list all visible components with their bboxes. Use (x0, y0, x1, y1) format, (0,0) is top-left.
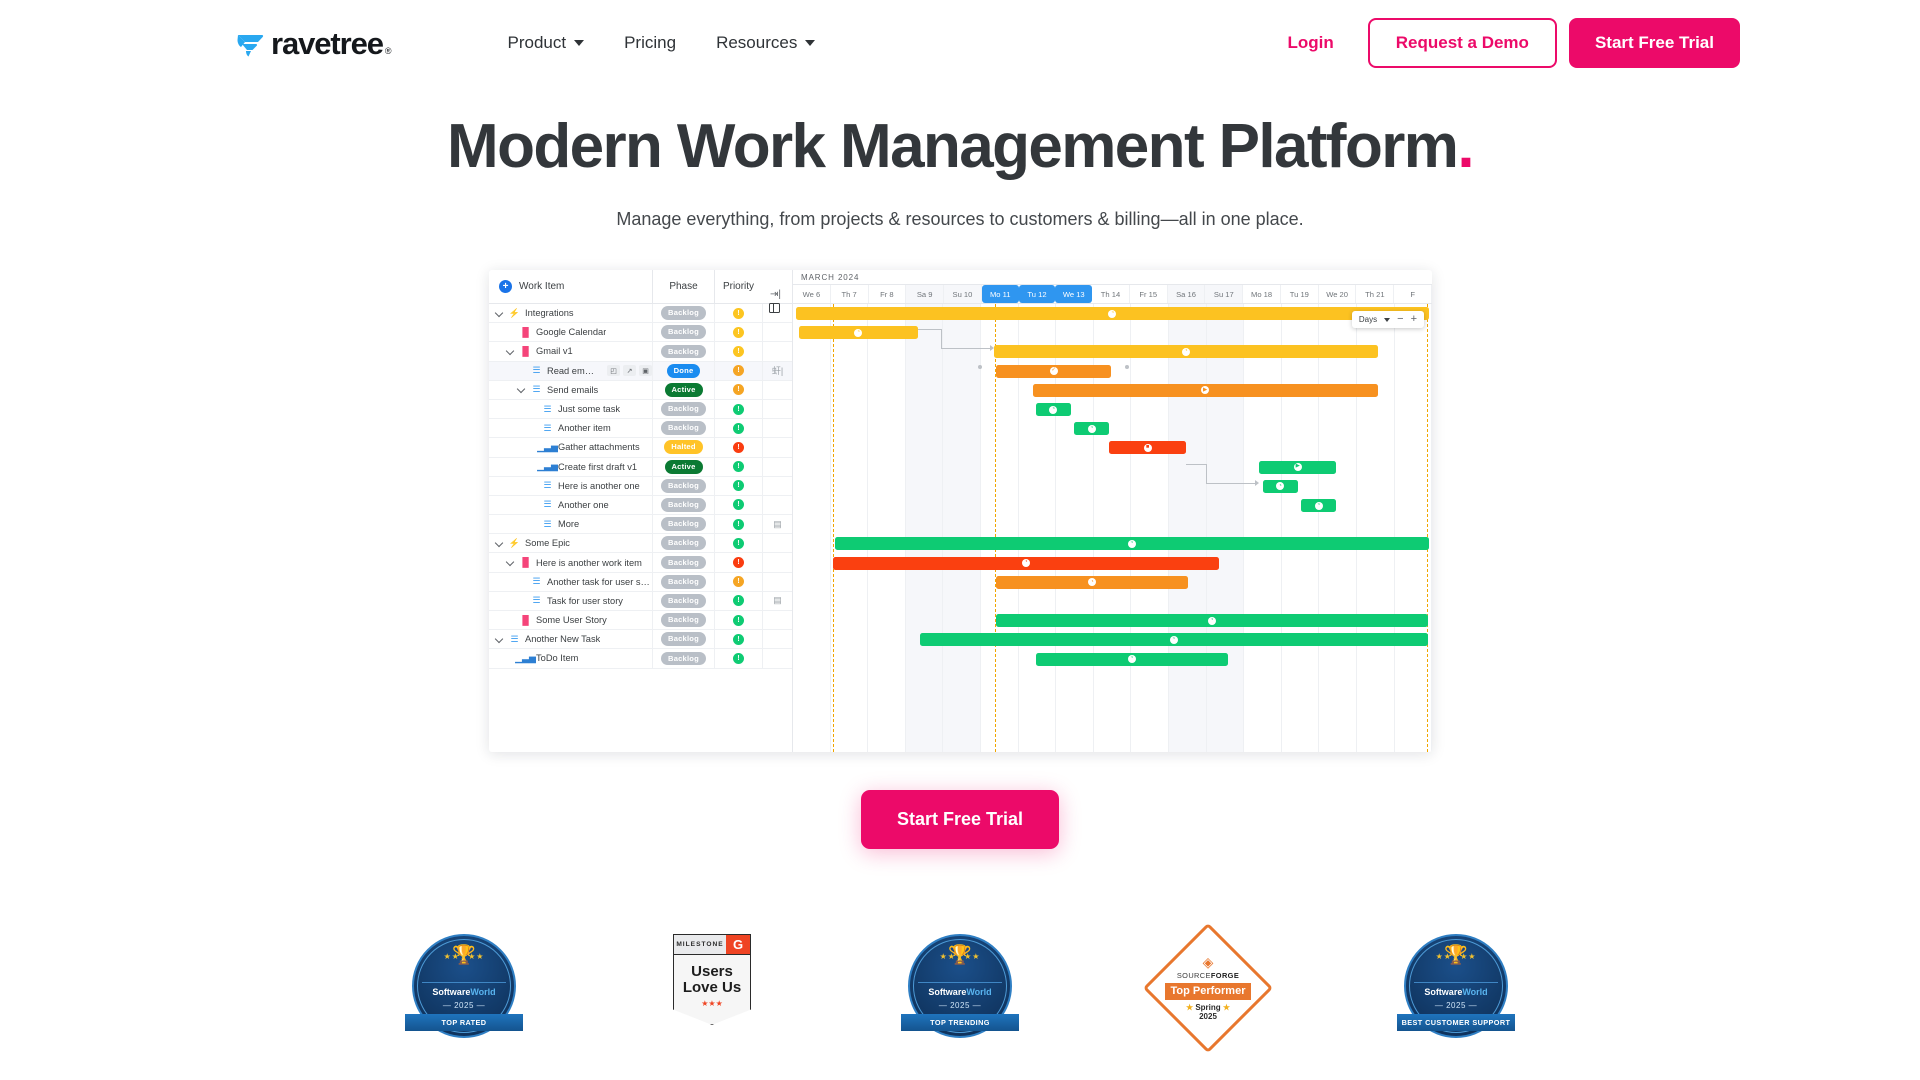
chart-icon: ▁▃▅ (520, 653, 531, 664)
row-label: Send emails (547, 385, 598, 395)
timeline-day-cell[interactable]: Th 21 (1356, 285, 1394, 303)
status-badge[interactable]: Backlog (661, 517, 706, 531)
gantt-bar[interactable]: ▶ (1259, 461, 1336, 474)
nav-item-resources[interactable]: Resources (696, 23, 835, 63)
priority-indicator[interactable]: ! (733, 461, 744, 472)
priority-cell: ! (714, 400, 762, 418)
badge-year: 2025 (1199, 1012, 1217, 1021)
status-badge[interactable]: Backlog (661, 498, 706, 512)
priority-indicator[interactable]: ! (733, 442, 744, 453)
chevron-down-icon[interactable] (495, 539, 504, 548)
gantt-bar[interactable]: ◔ (835, 537, 1429, 550)
column-header-work-item: Work Item (519, 281, 564, 292)
priority-indicator[interactable]: ! (733, 365, 744, 376)
priority-cell: ! (714, 534, 762, 552)
priority-indicator[interactable]: ! (733, 557, 744, 568)
timeline-column (1282, 304, 1320, 752)
row-action-cell (762, 323, 792, 341)
nav-label: Resources (716, 33, 797, 53)
row-action-cell (762, 611, 792, 629)
dependency-line (1206, 483, 1256, 484)
gantt-bar[interactable]: ■ (1109, 441, 1186, 454)
badge-brand-accent: World (966, 987, 991, 997)
status-badge[interactable]: Backlog (661, 325, 706, 339)
row-action-cell (762, 419, 792, 437)
gantt-bar-status-icon: ◔ (1022, 559, 1030, 567)
gantt-bar[interactable]: ◔ (833, 557, 1220, 570)
timeline-column (1207, 304, 1245, 752)
row-name-cell: ☰Send emails (489, 384, 652, 395)
badge-year: — 2025 — (904, 1001, 1016, 1010)
gantt-bar-status-icon: ◔ (1315, 502, 1323, 510)
gantt-bar[interactable]: ◔ (1263, 480, 1298, 493)
priority-cell: ! (714, 458, 762, 476)
row-name-cell: ☰Task for user story (489, 595, 652, 606)
timeline-zoom-control[interactable]: Days − + (1352, 311, 1424, 328)
dependency-line (1206, 464, 1207, 483)
timeline-marker-start (833, 304, 834, 752)
collapse-right-icon[interactable]: 虷| (762, 362, 792, 380)
priority-indicator[interactable]: ! (733, 634, 744, 645)
table-row[interactable]: ⚡Some EpicBacklog! (489, 534, 792, 553)
gantt-bar-status-icon: ◔ (1108, 310, 1116, 318)
timeline-day-cell[interactable]: Su 10 (944, 285, 982, 303)
table-row[interactable]: ☰Another oneBacklog! (489, 496, 792, 515)
row-label: Here is another work item (536, 558, 642, 568)
timeline-column (1319, 304, 1357, 752)
gantt-bar[interactable]: ◔ (796, 307, 1429, 320)
row-label: More (558, 519, 579, 529)
epic-icon: ⚡ (509, 308, 520, 319)
nav-item-product[interactable]: Product (488, 23, 605, 63)
row-action-cell (762, 630, 792, 648)
gantt-bar-status-icon: ◔ (1088, 425, 1096, 433)
badge-content: ◈SOURCEFORGETop Performer★ Spring ★2025 (1154, 934, 1262, 1042)
gantt-bar-status-icon: ◔ (1276, 482, 1284, 490)
table-row[interactable]: ☰Just some taskBacklog! (489, 400, 792, 419)
priority-indicator[interactable]: ! (733, 423, 744, 434)
award-badge-softwareworld: 🏆★★★★★SoftwareWorld— 2025 —TOP TRENDING (900, 930, 1020, 1050)
row-action-cell (762, 400, 792, 418)
gantt-bar[interactable]: ◔ (1036, 653, 1228, 666)
timeline-day-cell[interactable]: Th 7 (831, 285, 869, 303)
priority-indicator[interactable]: ! (733, 346, 744, 357)
priority-indicator[interactable]: ! (733, 538, 744, 549)
chevron-down-icon[interactable] (1384, 318, 1390, 322)
timeline-day-cell[interactable]: We 20 (1319, 285, 1357, 303)
phase-cell: Halted (652, 438, 714, 456)
priority-indicator[interactable]: ! (733, 384, 744, 395)
status-badge[interactable]: Backlog (661, 402, 706, 416)
task-icon: ☰ (531, 595, 542, 606)
priority-cell: ! (714, 362, 762, 380)
chevron-down-icon[interactable] (495, 309, 504, 318)
badge-divider (918, 982, 1002, 983)
phase-cell: Backlog (652, 630, 714, 648)
row-label: Another item (558, 423, 611, 433)
login-button[interactable]: Login (1265, 21, 1355, 65)
status-badge[interactable]: Backlog (661, 421, 706, 435)
timeline-column (793, 304, 831, 752)
gantt-bar[interactable]: ◔ (920, 633, 1428, 646)
row-label: Some User Story (536, 615, 607, 625)
status-badge[interactable]: Backlog (661, 479, 706, 493)
status-badge[interactable]: Backlog (661, 594, 706, 608)
nav-item-pricing[interactable]: Pricing (604, 23, 696, 63)
badge-divider (422, 982, 506, 983)
row-name-cell: ▐▌Some User Story (489, 615, 652, 626)
table-row[interactable]: ☰MoreBacklog!▤ (489, 515, 792, 534)
status-badge[interactable]: Backlog (661, 613, 706, 627)
row-name-cell: ⚡Some Epic (489, 538, 652, 549)
timeline-day-cell[interactable]: Mo 18 (1243, 285, 1281, 303)
phase-cell: Backlog (652, 649, 714, 667)
gantt-bar[interactable]: ▶ (1033, 384, 1378, 397)
table-row[interactable]: ☰Another itemBacklog! (489, 419, 792, 438)
row-action-cell (762, 534, 792, 552)
status-badge[interactable]: Backlog (661, 632, 706, 646)
badge-brand-main: Software (928, 987, 966, 997)
status-badge[interactable]: Halted (664, 440, 702, 454)
timeline-day-cell[interactable]: Tu 19 (1281, 285, 1319, 303)
priority-cell: ! (714, 573, 762, 591)
phase-cell: Backlog (652, 342, 714, 360)
table-row[interactable]: ⚡IntegrationsBacklog! (489, 304, 792, 323)
priority-cell: ! (714, 304, 762, 322)
task-icon: ☰ (542, 423, 553, 434)
row-label: Just some task (558, 404, 620, 414)
chart-icon: ▁▃▅ (542, 461, 553, 472)
phase-cell: Backlog (652, 419, 714, 437)
status-badge[interactable]: Backlog (661, 556, 706, 570)
priority-indicator[interactable]: ! (733, 308, 744, 319)
priority-indicator[interactable]: ! (733, 519, 744, 530)
priority-cell: ! (714, 592, 762, 610)
row-action-cell (762, 438, 792, 456)
open-external-icon[interactable]: ↗ (623, 365, 636, 376)
gantt-bar-status-icon: ▶ (1201, 386, 1209, 394)
badge-year: — 2025 — (1400, 1001, 1512, 1010)
g2-logo-icon: G (726, 935, 750, 954)
zoom-scale-label: Days (1359, 315, 1377, 324)
timeline-day-cell[interactable]: Th 14 (1092, 285, 1130, 303)
cta-section: Start Free Trial (0, 790, 1920, 849)
timeline-column (943, 304, 981, 752)
page-title: Modern Work Management Platform. (0, 114, 1920, 179)
phase-cell: Backlog (652, 592, 714, 610)
priority-cell: ! (714, 342, 762, 360)
sourceforge-logo-icon: ◈ (1203, 955, 1214, 969)
chevron-placeholder (528, 462, 537, 471)
timeline-day-cell[interactable]: Mo 11 (982, 285, 1019, 303)
panel-layout-icon[interactable] (769, 303, 780, 313)
priority-indicator[interactable]: ! (733, 499, 744, 510)
zoom-in-button[interactable]: + (1411, 314, 1417, 325)
row-action-cell (762, 649, 792, 667)
row-action-cell (762, 458, 792, 476)
product-screenshot-gantt: + Work Item Phase Priority ⇥| ⚡Integrati… (489, 270, 1432, 752)
timeline-day-cell[interactable]: Su 17 (1205, 285, 1243, 303)
timeline-day-cell[interactable]: We 6 (793, 285, 831, 303)
timeline-day-cell[interactable]: Sa 9 (906, 285, 944, 303)
table-row[interactable]: ▁▃▅ToDo ItemBacklog! (489, 649, 792, 668)
dependency-line (941, 329, 942, 348)
header-work-item: + Work Item (489, 280, 652, 293)
timeline-column (1169, 304, 1207, 752)
gantt-bar[interactable]: ◔ (799, 326, 917, 339)
timeline-body: ◔◔◔✓▶◔◔■▶◔◔◔◔◔◔◔◔ (793, 304, 1432, 752)
status-badge[interactable]: Backlog (661, 652, 706, 666)
timeline-column (1357, 304, 1395, 752)
gantt-bar[interactable]: ◔ (996, 614, 1427, 627)
epic-icon: ⚡ (509, 538, 520, 549)
timeline-columns (793, 304, 1432, 752)
softwareworld-badge: 🏆★★★★★SoftwareWorld— 2025 —BEST CUSTOMER… (1400, 930, 1512, 1042)
badge-title: Top Performer (1165, 983, 1251, 1000)
badge-brand: SOURCEFORGE (1177, 971, 1239, 980)
status-badge[interactable]: Done (667, 364, 701, 378)
row-name-cell: ☰Another task for user story (489, 576, 652, 587)
timeline-day-cell[interactable]: Tu 12 (1019, 285, 1056, 303)
chevron-placeholder (528, 443, 537, 452)
row-label: Gather attachments (558, 442, 640, 452)
timeline-column (1244, 304, 1282, 752)
dependency-line (918, 329, 941, 330)
table-row[interactable]: ☰Send emailsActive! (489, 381, 792, 400)
row-name-cell: ☰Another item (489, 423, 652, 434)
table-row[interactable]: ▐▌Google CalendarBacklog! (489, 323, 792, 342)
status-badge[interactable]: Backlog (661, 345, 706, 359)
gantt-bar-status-icon: ◔ (1170, 636, 1178, 644)
row-name-cell: ☰Another New Task (489, 634, 652, 645)
badge-brand-main: Software (432, 987, 470, 997)
row-label: Another New Task (525, 634, 600, 644)
story-icon: ▐▌ (520, 557, 531, 568)
phase-cell: Backlog (652, 611, 714, 629)
chevron-placeholder (506, 654, 515, 663)
priority-indicator[interactable]: ! (733, 576, 744, 587)
table-row[interactable]: ▐▌Here is another work itemBacklog! (489, 553, 792, 572)
row-action-cell (762, 496, 792, 514)
phase-cell: Done (652, 362, 714, 380)
priority-indicator[interactable]: ! (733, 404, 744, 415)
badge-ribbon-label: BEST CUSTOMER SUPPORT (1397, 1014, 1515, 1031)
gantt-bar[interactable]: ◔ (1301, 499, 1336, 512)
row-label: Create first draft v1 (558, 462, 637, 472)
g2-title-line1: Users (678, 964, 746, 980)
row-action-cell (762, 381, 792, 399)
priority-indicator[interactable]: ! (733, 480, 744, 491)
badge-brand: SoftwareWorld (1400, 988, 1512, 998)
phase-cell: Backlog (652, 553, 714, 571)
gantt-bar[interactable]: ◔ (1036, 403, 1071, 416)
gantt-bar[interactable]: ◔ (994, 345, 1377, 358)
priority-indicator[interactable]: ! (733, 615, 744, 626)
calendar-icon[interactable]: ▤ (762, 515, 792, 533)
chevron-placeholder (517, 577, 526, 586)
gantt-bar-status-icon: ◔ (854, 329, 862, 337)
gantt-bar-status-icon: ◔ (1182, 348, 1190, 356)
tag-icon[interactable]: ◰ (607, 365, 620, 376)
column-header-phase: Phase (652, 270, 714, 303)
table-row[interactable]: ☰Another task for user storyBacklog! (489, 573, 792, 592)
priority-indicator[interactable]: ! (733, 595, 744, 606)
start-free-trial-button-hero[interactable]: Start Free Trial (861, 790, 1059, 849)
timeline-month-label: MARCH 2024 (793, 270, 1432, 285)
nav-label: Pricing (624, 33, 676, 53)
row-label: Task for user story (547, 596, 623, 606)
sourceforge-badge: ◈SOURCEFORGETop Performer★ Spring ★2025 (1154, 934, 1262, 1042)
timeline-day-cell[interactable]: Fr 8 (869, 285, 907, 303)
badge-year: — 2025 — (408, 1001, 520, 1010)
ravetree-logo-icon (236, 31, 266, 59)
table-row[interactable]: ▐▌Gmail v1Backlog! (489, 342, 792, 361)
calendar-icon[interactable]: ▤ (762, 592, 792, 610)
row-label: Some Epic (525, 538, 570, 548)
timeline-day-cell[interactable]: Sa 16 (1168, 285, 1206, 303)
story-icon: ▐▌ (520, 615, 531, 626)
row-label: Gmail v1 (536, 346, 573, 356)
row-label: Integrations (525, 308, 574, 318)
row-name-cell: ☰Another one (489, 499, 652, 510)
phase-cell: Backlog (652, 515, 714, 533)
story-icon: ▐▌ (520, 327, 531, 338)
badge-brand-accent: World (470, 987, 495, 997)
row-label: Here is another one (558, 481, 640, 491)
chevron-down-icon[interactable] (506, 347, 515, 356)
status-badge[interactable]: Active (665, 460, 703, 474)
priority-cell: ! (714, 419, 762, 437)
table-row[interactable]: ☰Here is another oneBacklog! (489, 477, 792, 496)
gantt-bar-status-icon: ▶ (1294, 463, 1302, 471)
softwareworld-badge: 🏆★★★★★SoftwareWorld— 2025 —TOP RATED (408, 930, 520, 1042)
task-icon: ☰ (542, 499, 553, 510)
priority-indicator[interactable]: ! (733, 327, 744, 338)
badge-brand-main: SOURCE (1177, 971, 1211, 980)
gantt-bar-status-icon: ◔ (1049, 406, 1057, 414)
story-icon: ▐▌ (520, 346, 531, 357)
badge-brand-accent: World (1462, 987, 1487, 997)
phase-cell: Active (652, 458, 714, 476)
row-name-cell: ⚡Integrations (489, 308, 652, 319)
chevron-placeholder (528, 405, 537, 414)
gantt-bar-status-icon: ■ (1144, 444, 1152, 452)
badge-brand-main: Software (1424, 987, 1462, 997)
table-row[interactable]: ☰Task for user storyBacklog!▤ (489, 592, 792, 611)
task-icon: ☰ (531, 365, 542, 376)
nav-label: Product (508, 33, 567, 53)
timeline-day-cell[interactable]: We 13 (1055, 285, 1092, 303)
gantt-bar[interactable]: ◔ (1074, 422, 1109, 435)
main-nav: Product Pricing Resources (488, 23, 836, 63)
chevron-down-icon[interactable] (495, 635, 504, 644)
gantt-bar-status-icon: ◔ (1088, 578, 1096, 586)
chevron-down-icon (574, 40, 584, 46)
row-name-cell: ▁▃▅Gather attachments (489, 442, 652, 453)
g2-title-line2: Love Us (678, 980, 746, 996)
status-badge[interactable]: Active (665, 383, 703, 397)
award-badge-softwareworld: 🏆★★★★★SoftwareWorld— 2025 —TOP RATED (404, 930, 524, 1050)
row-name-cell: ☰Just some task (489, 404, 652, 415)
status-badge[interactable]: Backlog (661, 575, 706, 589)
badge-divider (1414, 982, 1498, 983)
chevron-placeholder (506, 328, 515, 337)
column-header-priority: Priority (714, 270, 762, 303)
task-icon: ☰ (509, 634, 520, 645)
row-name-cell: ☰Here is another one (489, 480, 652, 491)
hero-subhead: Manage everything, from projects & resou… (0, 209, 1920, 230)
brand-logo[interactable]: ravetree ® (236, 28, 392, 59)
status-badge[interactable]: Backlog (661, 536, 706, 550)
dependency-arrow-icon (990, 345, 994, 351)
plus-circle-icon[interactable]: + (499, 280, 512, 293)
collapse-right-icon[interactable]: ⇥| (770, 289, 781, 300)
chevron-placeholder (506, 616, 515, 625)
panel-icon[interactable]: ▣ (639, 365, 652, 376)
chevron-down-icon[interactable] (517, 385, 526, 394)
row-label: Google Calendar (536, 327, 606, 337)
row-quick-actions: ◰↗▣ (607, 365, 652, 376)
table-row[interactable]: ☰Read emails◰↗▣Done!虷| (489, 362, 792, 381)
award-badge-g2: MILESTONEGUsersLove Us★★★ (652, 930, 772, 1050)
timeline-day-cell[interactable]: Fr 15 (1130, 285, 1168, 303)
priority-cell: ! (714, 515, 762, 533)
priority-indicator[interactable]: ! (733, 653, 744, 664)
timeline-column (831, 304, 869, 752)
chart-icon: ▁▃▅ (542, 442, 553, 453)
chevron-placeholder (528, 500, 537, 509)
timeline-day-cell[interactable]: F (1394, 285, 1432, 303)
table-row[interactable]: ▁▃▅Gather attachmentsHalted! (489, 438, 792, 457)
landing-page: ravetree ® Product Pricing Resources Log… (0, 0, 1920, 1080)
table-row[interactable]: ▐▌Some User StoryBacklog! (489, 611, 792, 630)
award-badge-sourceforge: ◈SOURCEFORGETop Performer★ Spring ★2025 (1148, 930, 1268, 1050)
g2-header: MILESTONEG (673, 934, 751, 955)
dependency-arrow-icon (1255, 480, 1259, 486)
phase-cell: Backlog (652, 323, 714, 341)
table-row[interactable]: ☰Another New TaskBacklog! (489, 630, 792, 649)
chevron-placeholder (528, 520, 537, 529)
stars-icon: ★★★★★ (1400, 952, 1512, 961)
row-label: Read emails (547, 366, 596, 376)
badge-brand: SoftwareWorld (904, 988, 1016, 998)
priority-cell: ! (714, 438, 762, 456)
priority-cell: ! (714, 323, 762, 341)
start-free-trial-button-header[interactable]: Start Free Trial (1569, 18, 1740, 68)
badge-season: ★ Spring ★ (1186, 1003, 1230, 1012)
row-label: ToDo Item (536, 653, 578, 663)
gantt-bar[interactable]: ✓ (996, 365, 1111, 378)
timeline-day-header: We 6Th 7Fr 8Sa 9Su 10Mo 11Tu 12We 13Th 1… (793, 285, 1432, 304)
status-badge[interactable]: Backlog (661, 306, 706, 320)
table-row[interactable]: ▁▃▅Create first draft v1Active! (489, 458, 792, 477)
timeline-column (1131, 304, 1169, 752)
badge-ribbon-label: TOP TRENDING (901, 1014, 1019, 1031)
award-badge-row: 🏆★★★★★SoftwareWorld— 2025 —TOP RATEDMILE… (0, 930, 1920, 1050)
gantt-grid-header: + Work Item Phase Priority ⇥| (489, 270, 792, 304)
task-icon: ☰ (542, 519, 553, 530)
gantt-bar-status-icon: ✓ (1050, 367, 1058, 375)
row-name-cell: ▐▌Gmail v1 (489, 346, 652, 357)
chevron-down-icon[interactable] (506, 558, 515, 567)
headline-text: Modern Work Management Platform (447, 112, 1457, 181)
gantt-bar[interactable]: ◔ (996, 576, 1188, 589)
task-icon: ☰ (531, 384, 542, 395)
chevron-placeholder (517, 596, 526, 605)
request-demo-button[interactable]: Request a Demo (1368, 18, 1557, 68)
badge-brand-accent: FORGE (1211, 971, 1239, 980)
zoom-out-button[interactable]: − (1397, 314, 1403, 325)
